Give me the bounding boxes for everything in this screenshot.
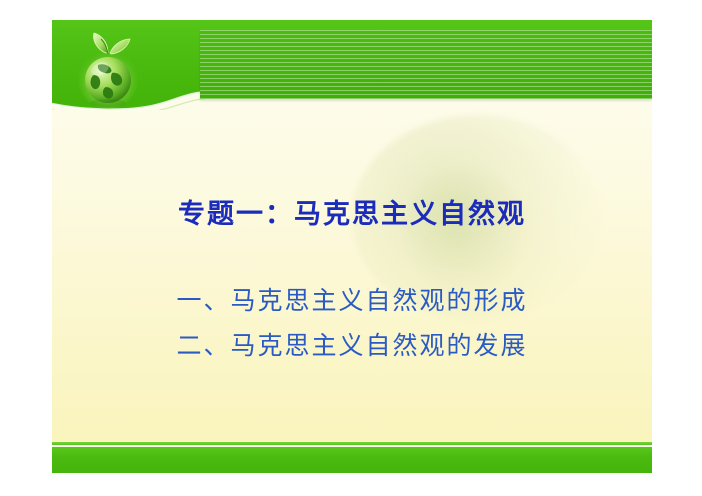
slide-title: 专题一：马克思主义自然观 bbox=[52, 192, 652, 231]
list-item: 二、马克思主义自然观的发展 bbox=[52, 323, 652, 368]
slide-canvas: 专题一：马克思主义自然观 一、马克思主义自然观的形成 二、马克思主义自然观的发展 bbox=[52, 20, 652, 473]
presentation-viewer: 专题一：马克思主义自然观 一、马克思主义自然观的形成 二、马克思主义自然观的发展 bbox=[0, 0, 702, 496]
list-item: 一、马克思主义自然观的形成 bbox=[52, 278, 652, 323]
green-footer-bar bbox=[52, 447, 652, 473]
slide-bullet-list: 一、马克思主义自然观的形成 二、马克思主义自然观的发展 bbox=[52, 278, 652, 368]
striped-green-panel bbox=[200, 30, 652, 99]
green-globe-leaf-logo bbox=[70, 27, 146, 111]
